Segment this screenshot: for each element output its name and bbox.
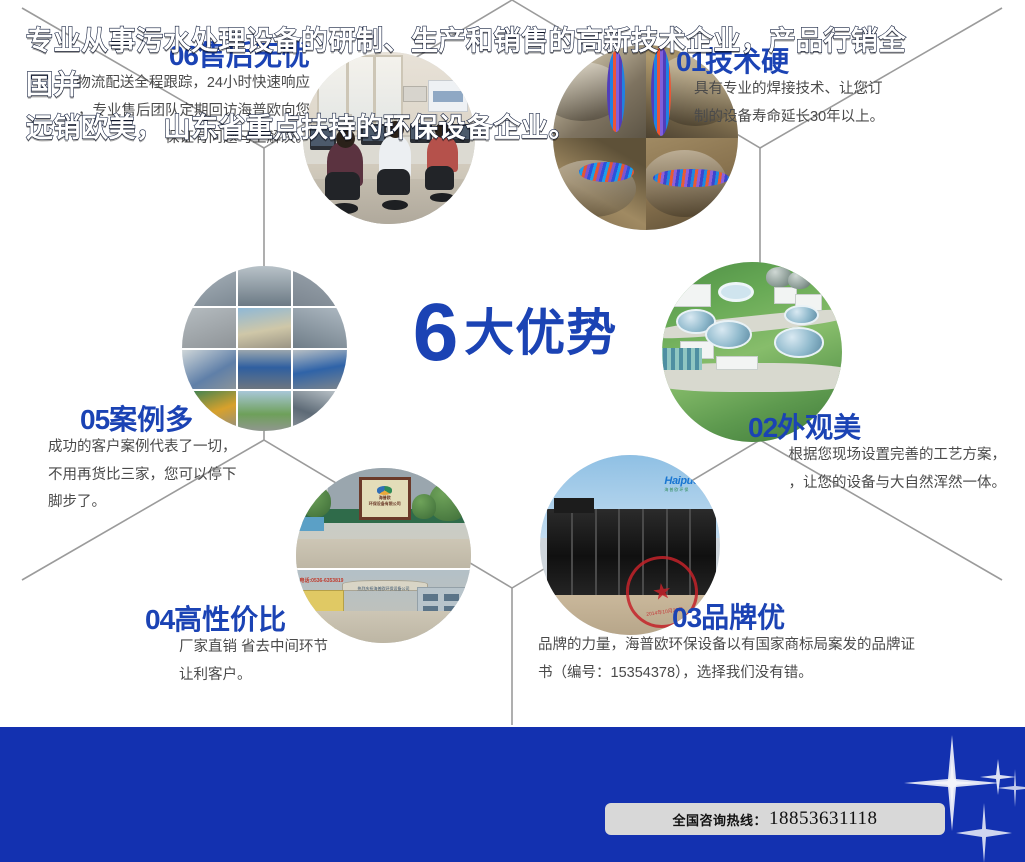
advantage-03-title: 03品牌优 <box>538 604 1008 632</box>
bottom-banner <box>0 727 1025 862</box>
advantage-block-05: 05案例多 成功的客户案例代表了一切， 不用再货比三家，您可以停下 脚步了。 <box>48 406 348 517</box>
advantage-05-body: 成功的客户案例代表了一切， 不用再货比三家，您可以停下 脚步了。 <box>48 434 348 517</box>
advantage-05-title: 05案例多 <box>48 406 348 434</box>
advantage-02-title: 02外观美 <box>690 414 1006 442</box>
center-title: 6 大优势 <box>385 288 645 378</box>
advantage-02-body: 根据您现场设置完善的工艺方案， ，让您的设备与大自然浑然一体。 <box>690 442 1006 497</box>
center-title-number: 6 <box>413 292 457 374</box>
banner-line-2: 远销欧美，山东省重点扶持的环保设备企业。 <box>26 107 906 151</box>
advantage-block-04: 04高性价比 厂家直销 省去中间环节 让利客户。 <box>145 606 475 689</box>
advantage-block-02: 02外观美 根据您现场设置完善的工艺方案， ，让您的设备与大自然浑然一体。 <box>690 414 1006 497</box>
advantage-04-title: 04高性价比 <box>145 606 475 634</box>
banner-text: 专业从事污水处理设备的研制、生产和销售的高新技术企业，产品行销全国并 远销欧美，… <box>26 20 906 151</box>
sparkle-decoration-small <box>990 763 1025 813</box>
hotline-label: 全国咨询热线： <box>672 810 767 829</box>
advantage-03-body: 品牌的力量，海普欧环保设备以有国家商标局案发的品牌证 书（编号：15354378… <box>538 632 1008 687</box>
infographic-root: 6 大优势 <box>0 0 1025 862</box>
sparkle-decoration <box>880 727 1025 862</box>
gate-phone-text: 电话:0536-6353819 <box>300 577 344 584</box>
factory-sign: 海普欧 环保设备有限公司 <box>359 477 411 520</box>
center-title-label: 大优势 <box>464 308 617 358</box>
hotline-number: 18853631118 <box>769 808 878 830</box>
advantage-block-03: 03品牌优 品牌的力量，海普欧环保设备以有国家商标局案发的品牌证 书（编号：15… <box>538 604 1008 687</box>
advantage-04-body: 厂家直销 省去中间环节 让利客户。 <box>145 634 475 689</box>
hotline-badge[interactable]: 全国咨询热线： 18853631118 <box>605 803 945 835</box>
banner-line-1: 专业从事污水处理设备的研制、生产和销售的高新技术企业，产品行销全国并 <box>26 20 906 107</box>
